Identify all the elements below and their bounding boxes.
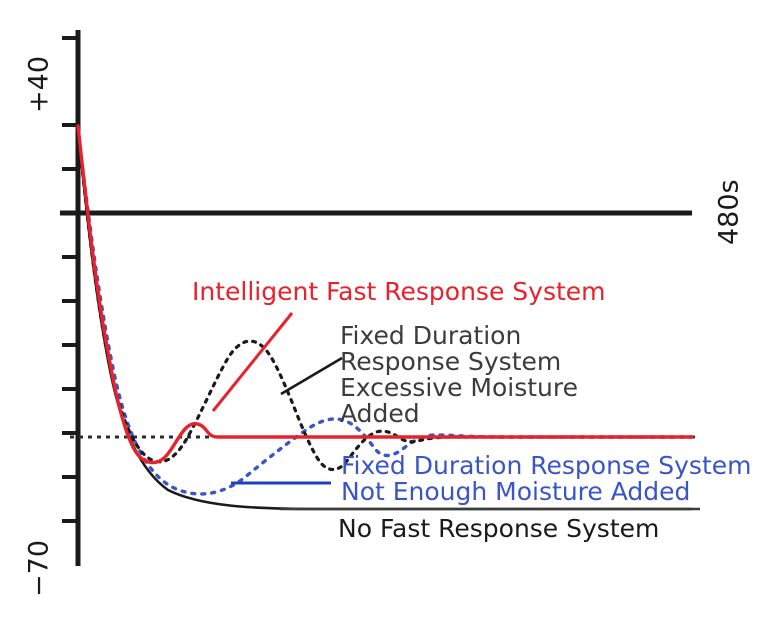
annotation-line-4: Added bbox=[340, 399, 420, 428]
annotation-line-1: Fixed Duration bbox=[340, 321, 521, 350]
series-fixed-duration-not-enough-moisture bbox=[78, 128, 692, 494]
annotation-line-3: Excessive Moisture bbox=[340, 373, 578, 402]
y-axis-bottom-label: −70 bbox=[24, 540, 55, 597]
annotation-line-2: Response System bbox=[340, 347, 561, 376]
chart-canvas: +40 −70 480s Intelligent Fast Response S… bbox=[0, 0, 763, 622]
annotation-no-fast-response-system: No Fast Response System bbox=[338, 514, 659, 543]
annotation-line-1: Fixed Duration Response System bbox=[341, 451, 752, 480]
annotation-intelligent-fast-response-system: Intelligent Fast Response System bbox=[192, 277, 606, 306]
annotation-fixed-duration-not-enough-moisture: Fixed Duration Response System Not Enoug… bbox=[341, 451, 752, 506]
annotation-line-2: Not Enough Moisture Added bbox=[341, 477, 690, 506]
x-axis-end-label: 480s bbox=[714, 179, 745, 245]
y-axis-top-label: +40 bbox=[24, 56, 55, 113]
annotation-fixed-duration-excessive-moisture: Fixed Duration Response System Excessive… bbox=[340, 321, 578, 428]
leader-line-fixed-excessive bbox=[281, 358, 342, 394]
chart-figure: +40 −70 480s Intelligent Fast Response S… bbox=[0, 0, 763, 622]
